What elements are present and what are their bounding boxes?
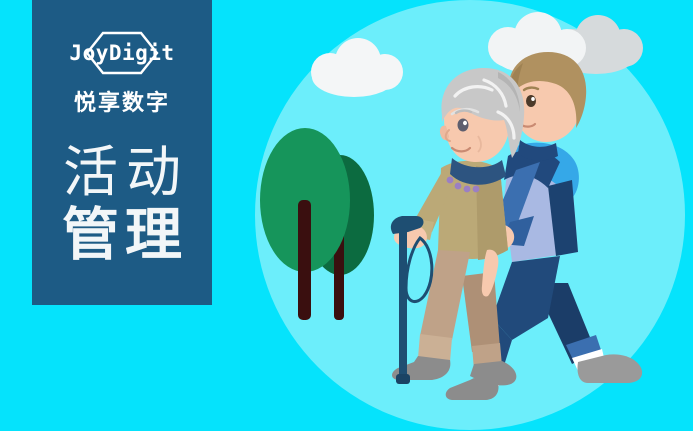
- brand-wordmark: JoyDigit: [69, 41, 174, 65]
- elderly-woman-head: [440, 68, 524, 162]
- page-title-line-1: 活动: [55, 143, 189, 202]
- panel-title: 活动 管理: [32, 143, 212, 268]
- brand-logo: JoyDigit: [52, 30, 192, 76]
- brand-subtitle: 悦享数字: [74, 85, 170, 117]
- title-panel: JoyDigit 悦享数字 活动 管理: [32, 0, 212, 305]
- promo-banner: JoyDigit 悦享数字 活动 管理: [0, 0, 693, 431]
- page-title-line-2: 管理: [56, 204, 188, 268]
